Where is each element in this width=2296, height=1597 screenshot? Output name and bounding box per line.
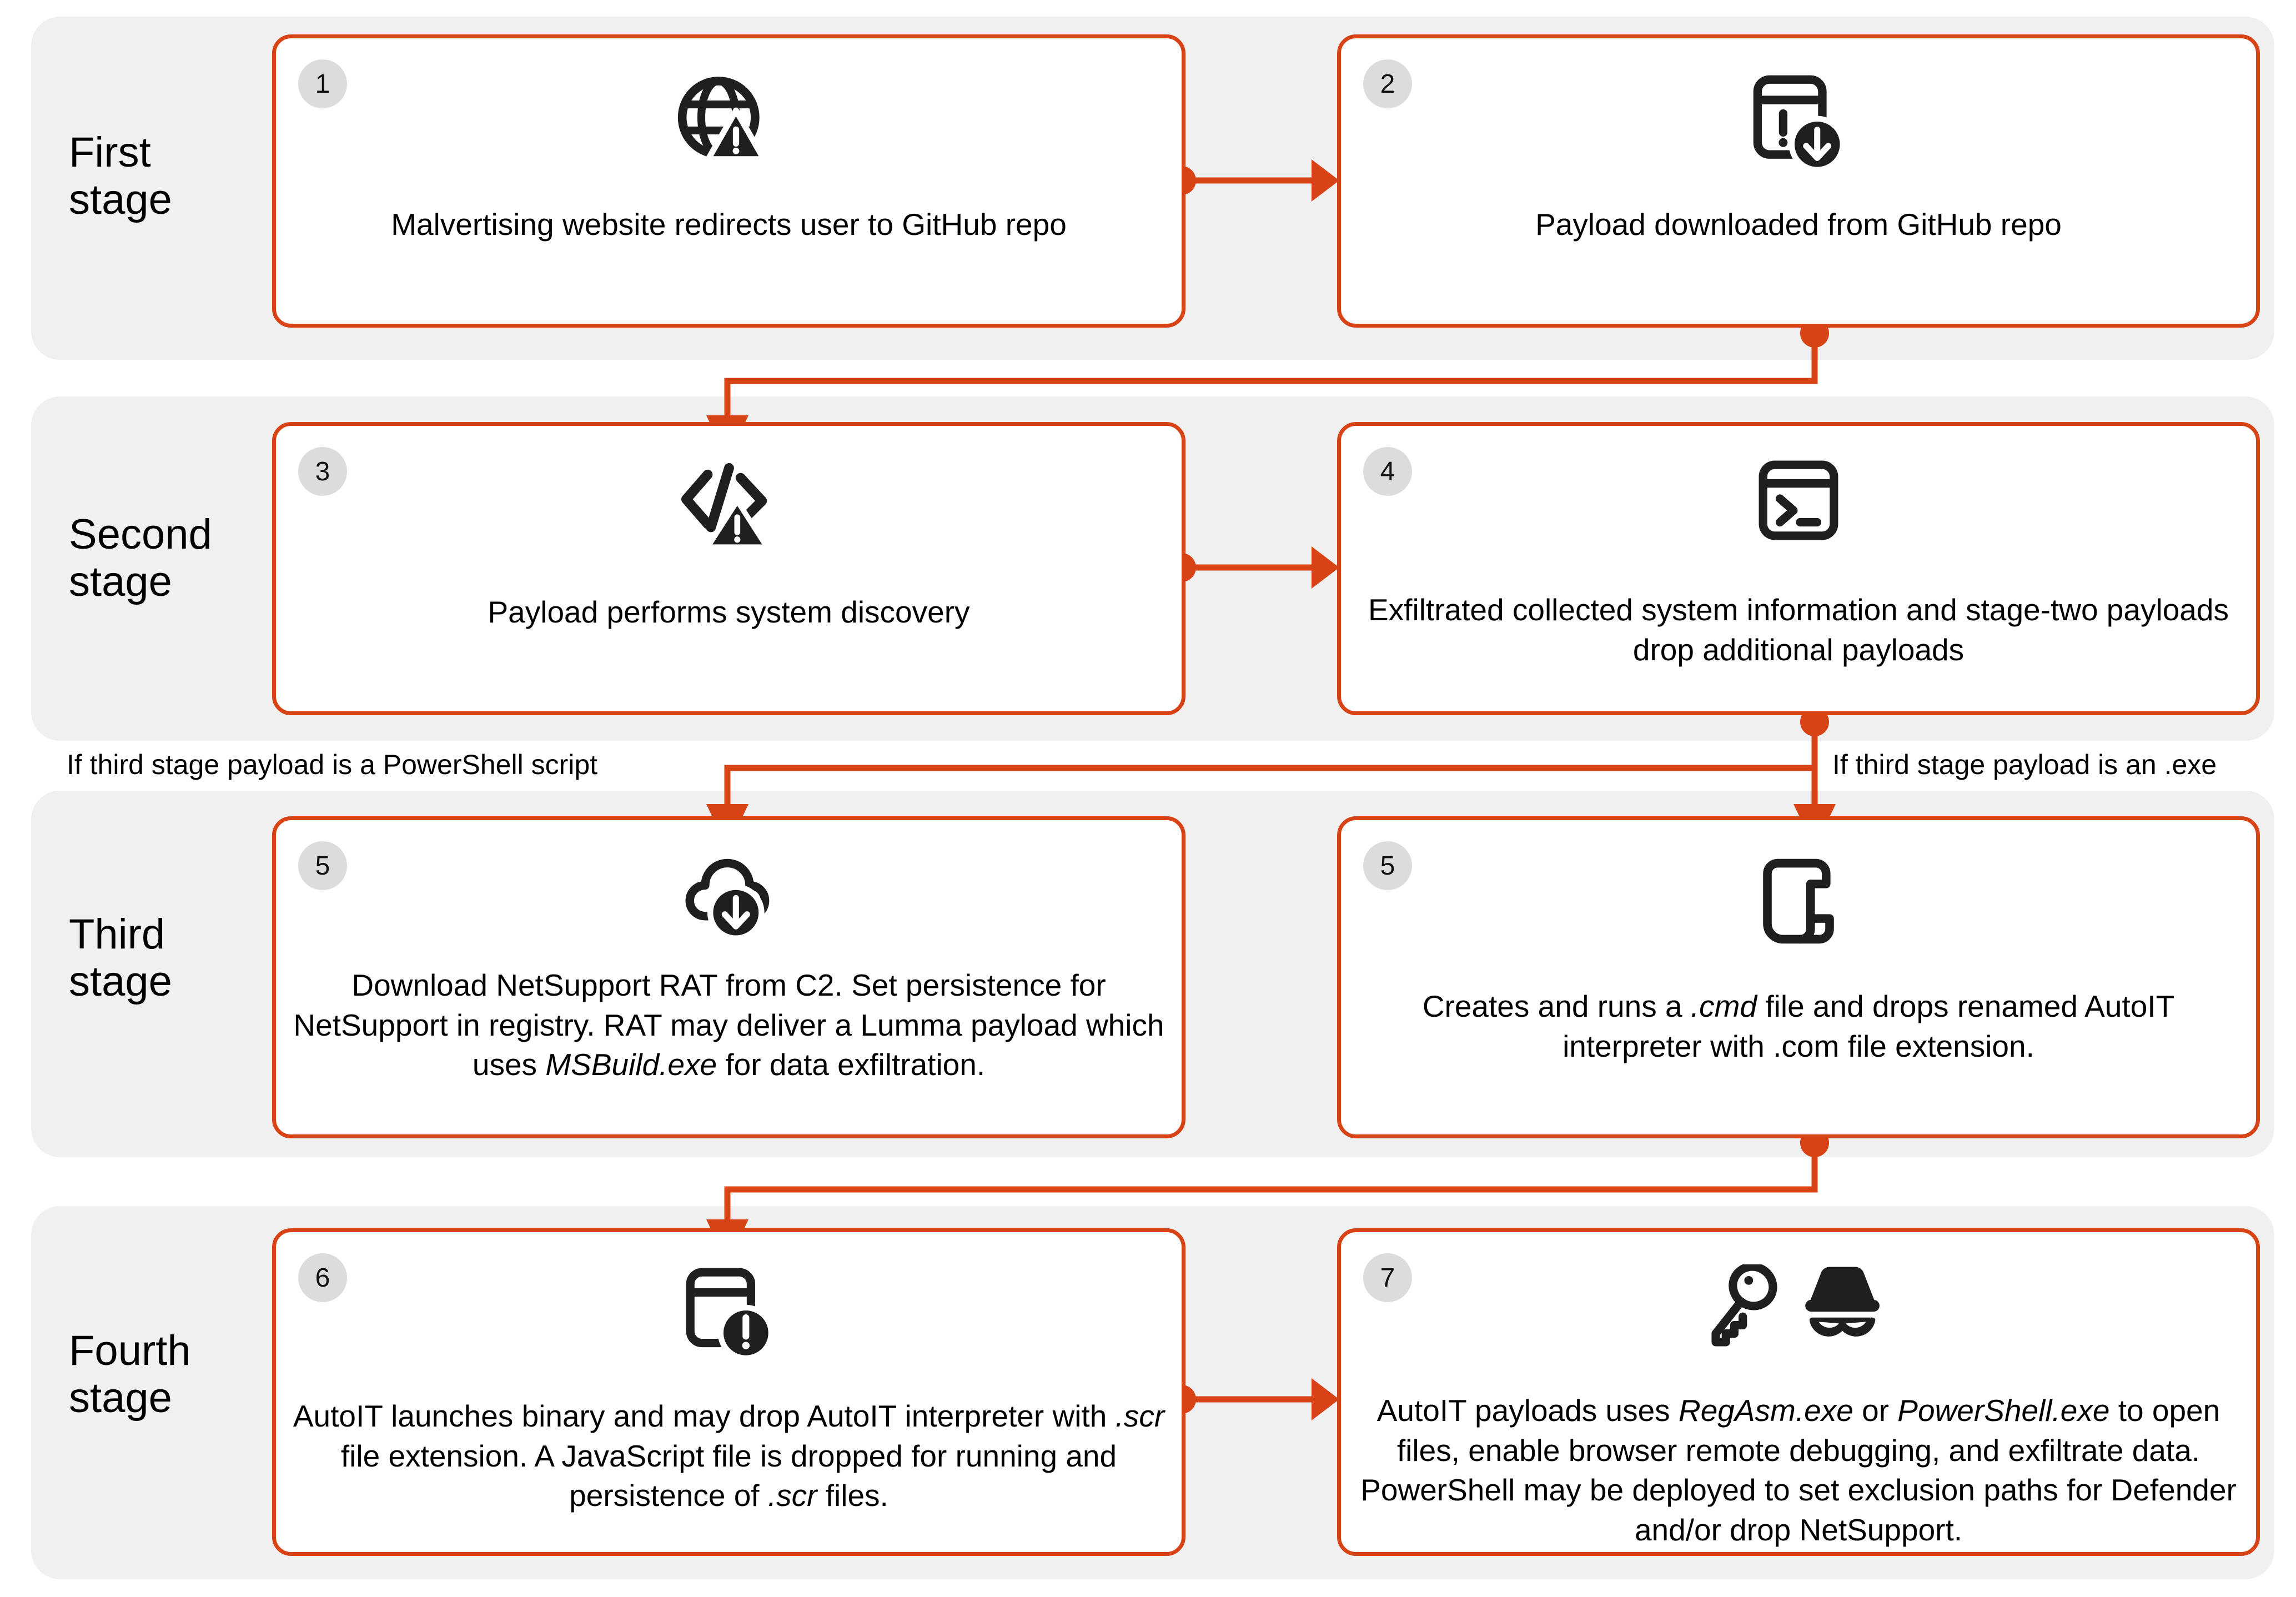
- card-4[interactable]: 4 Exfiltrated collected system informati…: [1337, 422, 2260, 715]
- stage-label-second: Second stage: [69, 511, 212, 605]
- stage-label-fourth: Fourth stage: [69, 1327, 191, 1422]
- globe-warning-icon: [276, 72, 1182, 177]
- card-3[interactable]: 3 Payload performs system discovery: [272, 422, 1185, 715]
- stage-label-third-line1: Third: [69, 911, 172, 958]
- card-1[interactable]: 1 Malvertising website redirects user to…: [272, 34, 1185, 328]
- stage-label-fourth-line2: stage: [69, 1374, 191, 1422]
- key-spy-icon: [1341, 1264, 2256, 1349]
- card-4-text: Exfiltrated collected system information…: [1357, 590, 2240, 670]
- stage-label-third: Third stage: [69, 911, 172, 1005]
- attack-chain-diagram: First stage Second stage Third stage Fou…: [0, 0, 2296, 1597]
- browser-download-warning-icon: [1341, 73, 2256, 175]
- card-6-text: AutoIT launches binary and may drop Auto…: [292, 1397, 1166, 1516]
- card-5-right-text: Creates and runs a .cmd file and drops r…: [1357, 987, 2240, 1066]
- card-1-text: Malvertising website redirects user to G…: [292, 205, 1166, 245]
- stage-label-third-line2: stage: [69, 958, 172, 1005]
- scroll-script-icon: [1341, 855, 2256, 948]
- stage-label-second-line2: stage: [69, 558, 212, 605]
- card-5-left[interactable]: 5 Download NetSupport RAT from C2. Set p…: [272, 816, 1185, 1138]
- stage-label-fourth-line1: Fourth: [69, 1327, 191, 1374]
- card-7[interactable]: 7 AutoIT payloads uses RegAsm.: [1337, 1228, 2260, 1556]
- console-terminal-icon: [1341, 458, 2256, 543]
- card-7-text: AutoIT payloads uses RegAsm.exe or Power…: [1357, 1391, 2240, 1550]
- browser-alert-icon: [276, 1265, 1182, 1363]
- condition-label-powershell: If third stage payload is a PowerShell s…: [67, 749, 597, 781]
- card-2[interactable]: 2 Payload downloaded from GitHub repo: [1337, 34, 2260, 328]
- card-5-left-text: Download NetSupport RAT from C2. Set per…: [292, 966, 1166, 1085]
- card-6[interactable]: 6 AutoIT launches binary and may drop Au…: [272, 1228, 1185, 1556]
- stage-label-first-line1: First: [69, 129, 172, 176]
- stage-label-first-line2: stage: [69, 176, 172, 223]
- code-warning-icon: [276, 458, 1182, 554]
- card-2-text: Payload downloaded from GitHub repo: [1357, 205, 2240, 245]
- card-3-text: Payload performs system discovery: [292, 592, 1166, 632]
- cloud-download-icon: [276, 855, 1182, 943]
- stage-label-second-line1: Second: [69, 511, 212, 558]
- stage-label-first: First stage: [69, 129, 172, 223]
- condition-label-exe: If third stage payload is an .exe: [1832, 749, 2217, 781]
- card-5-right[interactable]: 5 Creates and runs a .cmd file and drops…: [1337, 816, 2260, 1138]
